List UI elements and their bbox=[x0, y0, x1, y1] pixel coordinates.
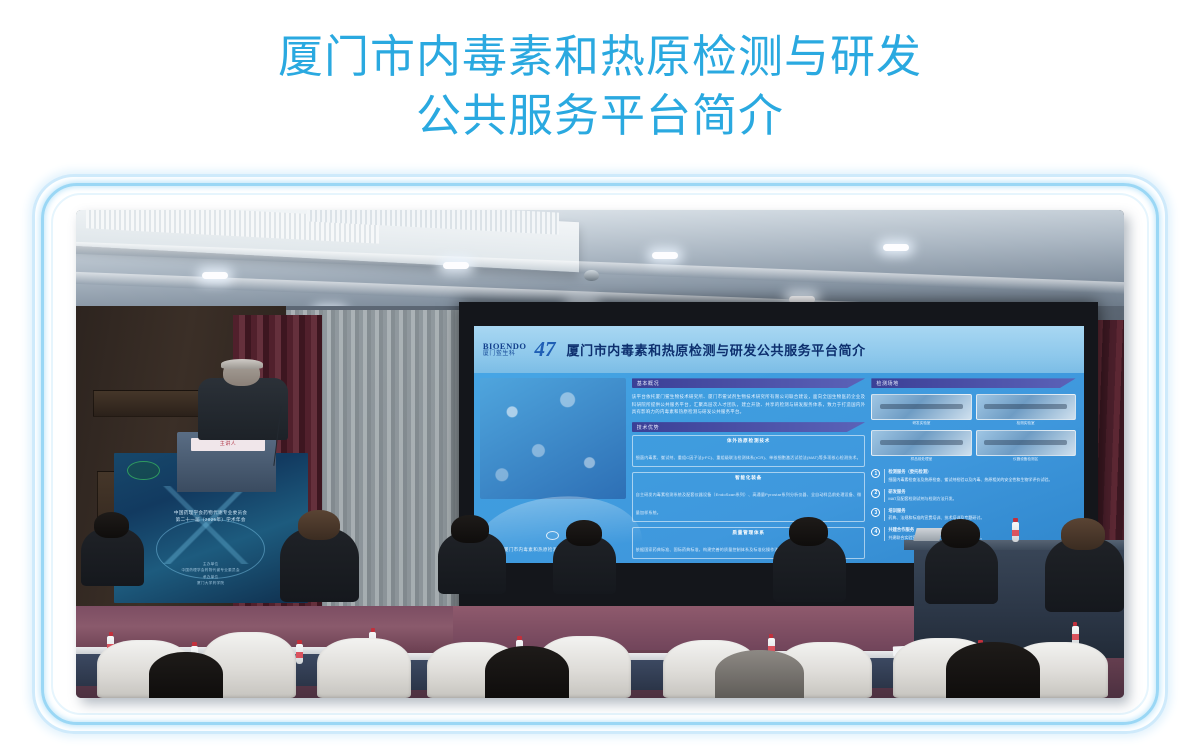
presenter-body bbox=[198, 378, 288, 440]
security-camera-icon bbox=[584, 270, 599, 281]
service-desc: MAT及配套检测试剂与检测方法开发。 bbox=[888, 496, 956, 501]
service-item: 1 检测服务（委托检测） 细菌内毒素检查法及热原检查、鲎试剂检验以及内毒、热原相… bbox=[871, 469, 1075, 482]
service-title: 检测服务（委托检测） bbox=[888, 469, 1052, 476]
facility-thumb-image bbox=[976, 394, 1076, 420]
section-tag-background: 基本概况 bbox=[632, 378, 866, 388]
capability-title: 体外热原检测技术 bbox=[636, 438, 862, 444]
water-bottle-icon bbox=[296, 644, 303, 664]
audience-head bbox=[1061, 518, 1105, 550]
conference-photo: BIOENDO 厦门鲎生科 47 厦门市内毒素和热原检测与研发公共服务平台简介 bbox=[76, 210, 1124, 698]
audience-head-front bbox=[485, 646, 569, 698]
society-emblem-icon bbox=[127, 461, 160, 481]
photo-frame: BIOENDO 厦门鲎生科 47 厦门市内毒素和热原检测与研发公共服务平台简介 bbox=[32, 174, 1168, 734]
ceiling-light-icon bbox=[883, 244, 909, 251]
capability-text: 细菌内毒素、鲎试剂、重组C因子法(rFC)、重组级联法检测体系(rCR)、单核细… bbox=[636, 455, 861, 460]
slide-title: 厦门市内毒素和热原检测与研发公共服务平台简介 bbox=[567, 340, 866, 359]
service-number-badge: 4 bbox=[871, 527, 880, 536]
audience-head-front bbox=[149, 652, 222, 698]
banner-host-label: 主办单位 bbox=[203, 562, 219, 566]
capability-text: 自主研发内毒素检测系统及配套仪器设备（EndoScan系列）、高通量Pyrost… bbox=[636, 492, 862, 515]
slide-header: BIOENDO 厦门鲎生科 47 厦门市内毒素和热原检测与研发公共服务平台简介 bbox=[474, 326, 1084, 373]
capability-title: 智能化装备 bbox=[636, 475, 862, 481]
slide-body: 厦门市内毒素和热原检测与研发公共服务平台 基本概况 该平台依托厦门鲎生物技术研究… bbox=[474, 373, 1084, 562]
service-number-badge: 3 bbox=[871, 508, 880, 517]
slide-column-left: 厦门市内毒素和热原检测与研发公共服务平台 bbox=[480, 378, 626, 558]
facility-thumb-caption: 样品前处理室 bbox=[871, 457, 971, 462]
facility-thumb: 样品前处理室 bbox=[871, 430, 971, 462]
capability-card: 智能化装备 自主研发内毒素检测系统及配套仪器设备（EndoScan系列）、高通量… bbox=[632, 472, 866, 522]
ceiling-light-icon bbox=[652, 252, 678, 259]
cell-microscopy-image bbox=[480, 378, 626, 499]
facility-thumbnail-grid: 研发实验室 检测实验室 样品前处理室 bbox=[871, 394, 1075, 462]
facility-thumb-caption: 仪器设备检测区 bbox=[976, 457, 1076, 462]
page-title: 厦门市内毒素和热原检测与研发 公共服务平台简介 bbox=[0, 28, 1200, 145]
facility-thumb-caption: 研发实验室 bbox=[871, 421, 971, 426]
service-item: 2 研发服务 MAT及配套检测试剂与检测方法开发。 bbox=[871, 489, 1075, 502]
brand-name-en: BIOENDO bbox=[483, 342, 527, 351]
service-text: 研发服务 MAT及配套检测试剂与检测方法开发。 bbox=[884, 489, 956, 502]
background-paragraph: 该平台依托厦门鲎生物技术研究所、厦门市鲎试剂生物技术研究所有限公司联合建设，面向… bbox=[632, 393, 866, 415]
banner-organizer-label: 承办单位 bbox=[203, 575, 219, 579]
service-number-badge: 2 bbox=[871, 489, 880, 498]
service-desc: 细菌内毒素检查法及热原检查、鲎试剂检验以及内毒、热原相关的安全性和生物学评价试验… bbox=[888, 477, 1052, 482]
brand-mark-47: 47 bbox=[535, 337, 556, 362]
service-desc: 药典、法规和标准的宣贯培训、技术培训及专题研讨。 bbox=[888, 515, 984, 520]
service-title: 培训服务 bbox=[888, 508, 984, 515]
footer-mark-icon bbox=[546, 531, 559, 540]
presenter-hair bbox=[221, 359, 263, 369]
poster-page: 厦门市内毒素和热原检测与研发 公共服务平台简介 bbox=[0, 0, 1200, 756]
projection-screen: BIOENDO 厦门鲎生科 47 厦门市内毒素和热原检测与研发公共服务平台简介 bbox=[474, 326, 1084, 563]
laptop bbox=[913, 528, 942, 541]
water-bottle-icon bbox=[1012, 522, 1019, 542]
facility-thumb-caption: 检测实验室 bbox=[976, 421, 1076, 426]
service-item: 3 培训服务 药典、法规和标准的宣贯培训、技术培训及专题研讨。 bbox=[871, 508, 1075, 521]
facility-thumb: 研发实验室 bbox=[871, 394, 971, 426]
capability-card: 体外热原检测技术 细菌内毒素、鲎试剂、重组C因子法(rFC)、重组级联法检测体系… bbox=[632, 435, 866, 467]
bioendo-logo: BIOENDO 厦门鲎生科 bbox=[483, 342, 527, 358]
facility-thumb-image bbox=[871, 430, 971, 456]
brand-name-cn: 厦门鲎生科 bbox=[483, 351, 527, 357]
banner-title-line-1: 中国药理学会药物代谢专业委员会 bbox=[174, 510, 247, 515]
facility-thumb: 检测实验室 bbox=[976, 394, 1076, 426]
audience-head bbox=[451, 515, 489, 543]
audience-head bbox=[298, 510, 340, 540]
banner-title: 中国药理学会药物代谢专业委员会 第二十一届（2025年）学术年会 bbox=[127, 509, 294, 524]
page-title-line-1: 厦门市内毒素和热原检测与研发 bbox=[0, 28, 1200, 87]
slide-column-middle: 基本概况 该平台依托厦门鲎生物技术研究所、厦门市鲎试剂生物技术研究所有限公司联合… bbox=[632, 378, 866, 558]
service-text: 检测服务（委托检测） 细菌内毒素检查法及热原检查、鲎试剂检验以及内毒、热原相关的… bbox=[884, 469, 1052, 482]
section-tag-facility: 检测场地 bbox=[871, 378, 1075, 388]
facility-thumb: 仪器设备检测区 bbox=[976, 430, 1076, 462]
banner-subtitle: 主办单位 中国药理学会药物代谢专业委员会 承办单位 厦门大学药学院 bbox=[133, 561, 288, 587]
audience-head bbox=[94, 512, 130, 538]
page-title-line-2: 公共服务平台简介 bbox=[0, 87, 1200, 146]
ceiling-light-icon bbox=[202, 272, 228, 279]
audience-head bbox=[789, 517, 829, 546]
capability-text: 依据国家药典标准、国际药典标准，构建完善的质量控制体系及标准化操作流程。 bbox=[636, 547, 787, 552]
chair bbox=[317, 638, 411, 698]
section-tag-capability: 技术优势 bbox=[632, 422, 866, 432]
banner-organizer-name: 厦门大学药学院 bbox=[197, 581, 224, 585]
audience-head bbox=[566, 520, 602, 546]
service-title: 研发服务 bbox=[888, 489, 956, 496]
service-text: 培训服务 药典、法规和标准的宣贯培训、技术培训及专题研讨。 bbox=[884, 508, 984, 521]
facility-thumb-image bbox=[976, 430, 1076, 456]
service-number-badge: 1 bbox=[871, 469, 880, 478]
banner-host-name: 中国药理学会药物代谢专业委员会 bbox=[181, 568, 239, 572]
facility-thumb-image bbox=[871, 394, 971, 420]
ceiling-light-icon bbox=[443, 262, 469, 269]
audience-head bbox=[941, 519, 981, 548]
banner-title-line-2: 第二十一届（2025年）学术年会 bbox=[176, 517, 246, 522]
audience-head-front bbox=[715, 650, 804, 698]
audience-head-front bbox=[946, 642, 1040, 698]
